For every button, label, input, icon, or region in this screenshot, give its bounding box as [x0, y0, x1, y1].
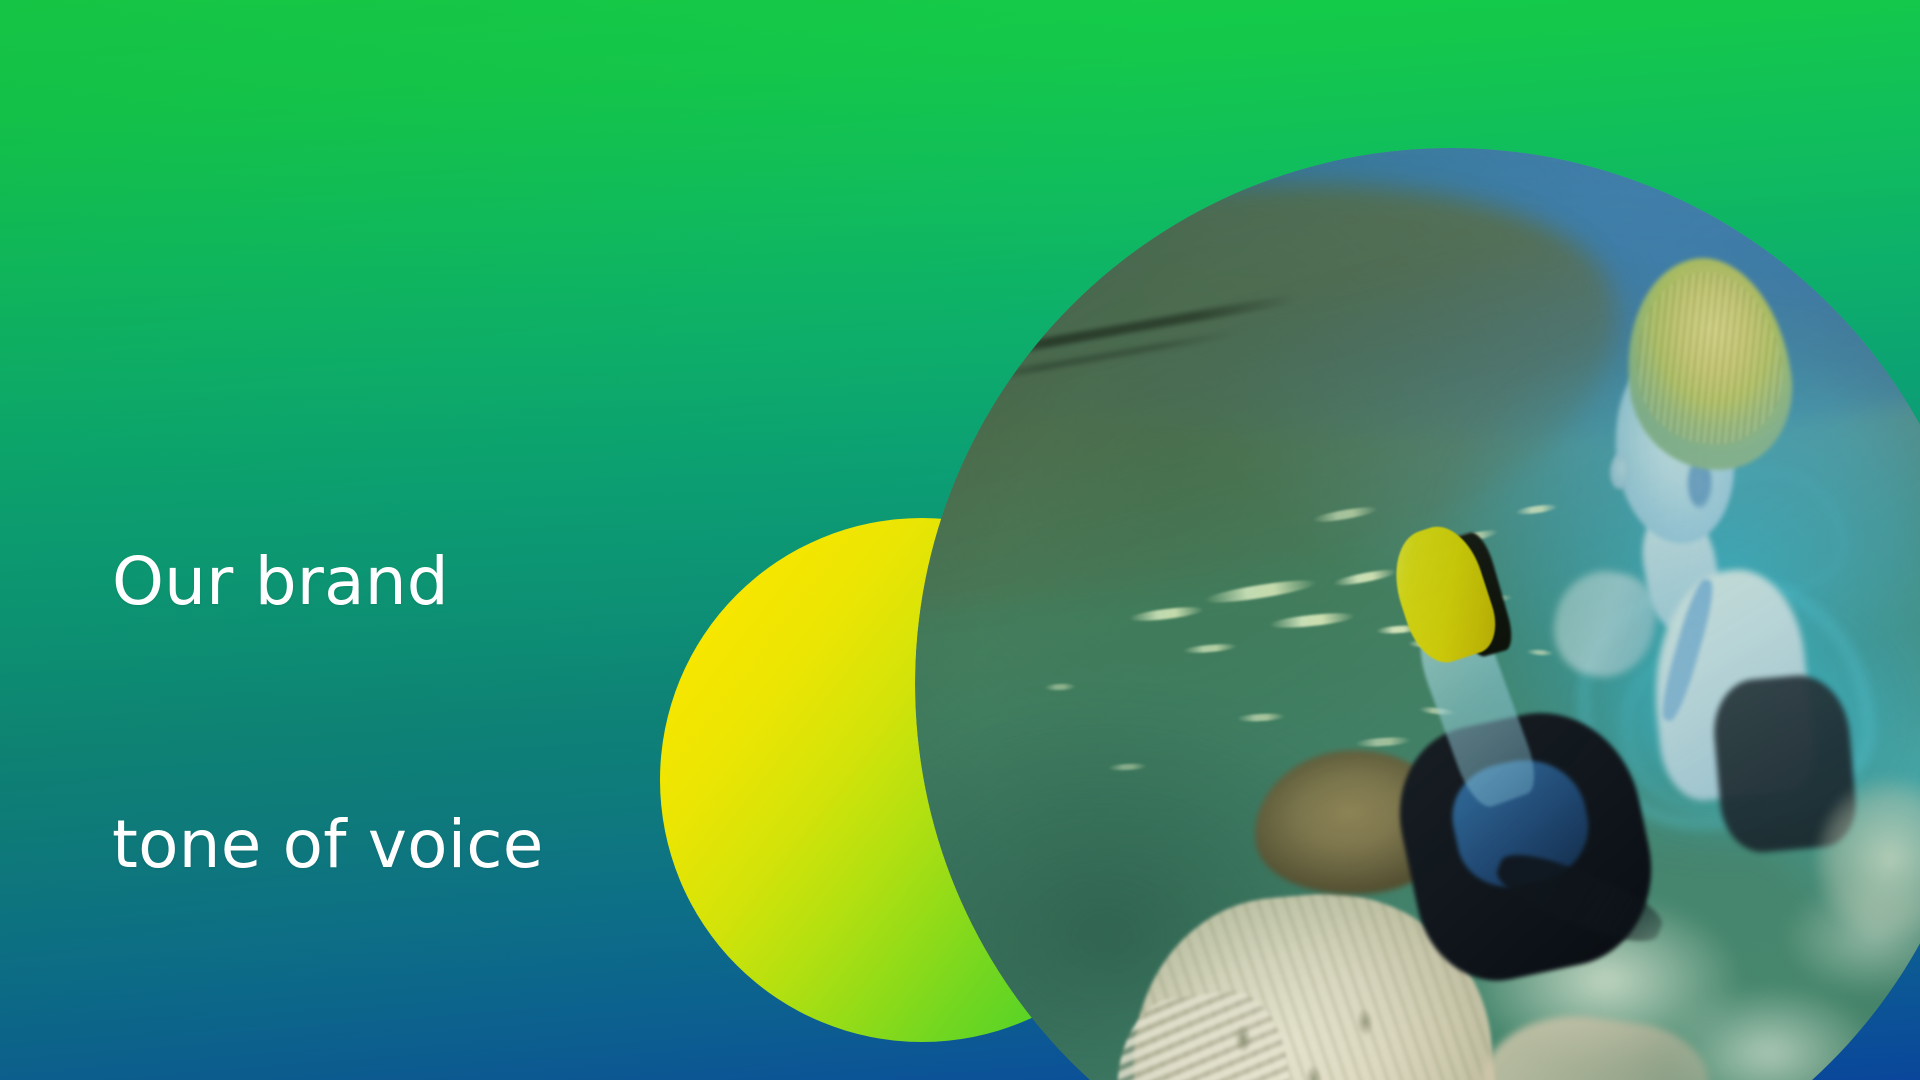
photo-content	[915, 148, 1920, 1080]
headline-line-2: tone of voice	[112, 801, 544, 889]
underwater-photo-circle	[915, 148, 1920, 1080]
page-title: Our brand tone of voice	[112, 362, 544, 1064]
photo-vignette	[915, 148, 1920, 1080]
headline-line-1: Our brand	[112, 538, 544, 626]
presentation-slide: Our brand tone of voice	[0, 0, 1920, 1080]
